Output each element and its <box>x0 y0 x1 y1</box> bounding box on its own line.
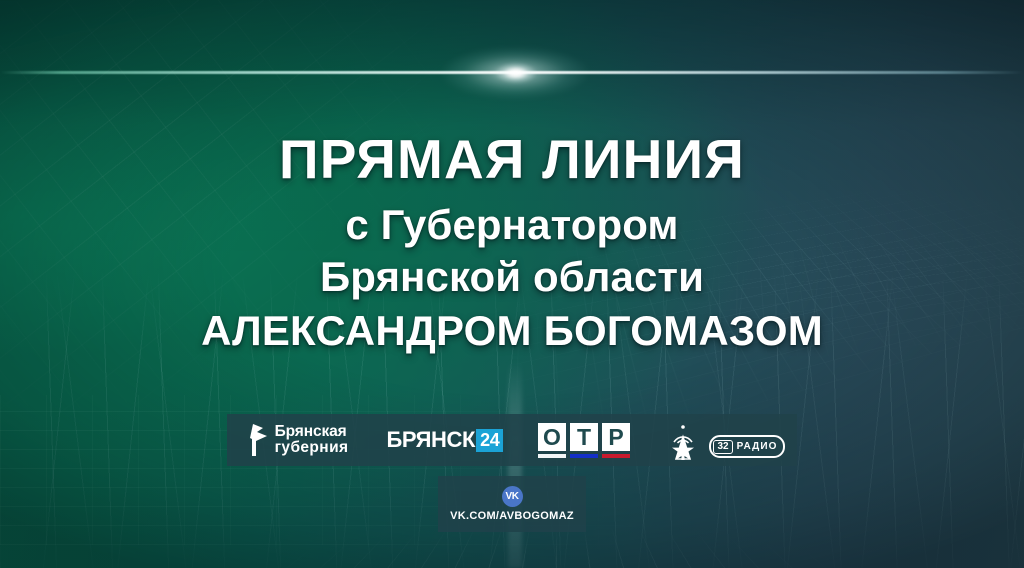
logo-otr[interactable]: О Т Р <box>519 414 649 466</box>
logo-bryanskaya-guberniya[interactable]: Брянская губерния <box>227 414 371 466</box>
vk-icon[interactable]: VK <box>502 486 523 507</box>
logo-32-radio-pill: 32 РАДИО <box>709 435 784 458</box>
vk-link-panel[interactable]: VK VK.COM/AVBOGOMAZ <box>0 476 1024 532</box>
logo-otr-letter-t: Т <box>570 423 598 451</box>
vk-url-label: VK.COM/AVBOGOMAZ <box>450 510 574 522</box>
logo-otr-rule-white <box>538 454 566 458</box>
logo-otr-letter-o: О <box>538 423 566 451</box>
partner-logo-strip: Брянская губерния БРЯНСК 24 О Т <box>0 414 1024 466</box>
logo-32-radio-number: 32 <box>713 440 732 454</box>
logo-bryanskaya-guberniya-text: Брянская губерния <box>275 424 349 456</box>
logo-bryansk24-badge: 24 <box>476 429 503 452</box>
logo-bryansk24-word: БРЯНСК <box>387 427 476 453</box>
logo-otr-cell-p: Р <box>602 423 630 458</box>
logo-guberniya-line-1: Брянская <box>275 424 349 440</box>
logo-32-radio[interactable]: 32 РАДИО <box>649 414 797 466</box>
logo-guberniya-line-2: губерния <box>275 440 349 456</box>
broadcast-title-card: ПРЯМАЯ ЛИНИЯ с Губернатором Брянской обл… <box>0 0 1024 568</box>
radio-tower-star-icon <box>661 418 707 462</box>
logo-otr-rule-red <box>602 454 630 458</box>
flag-emblem-icon <box>250 423 268 457</box>
logo-bryansk-24[interactable]: БРЯНСК 24 <box>371 414 519 466</box>
logo-otr-cell-o: О <box>538 423 566 458</box>
logo-32-radio-word: РАДИО <box>737 441 778 452</box>
logo-otr-cell-t: Т <box>570 423 598 458</box>
logo-otr-rule-blue <box>570 454 598 458</box>
logo-otr-letter-p: Р <box>602 423 630 451</box>
